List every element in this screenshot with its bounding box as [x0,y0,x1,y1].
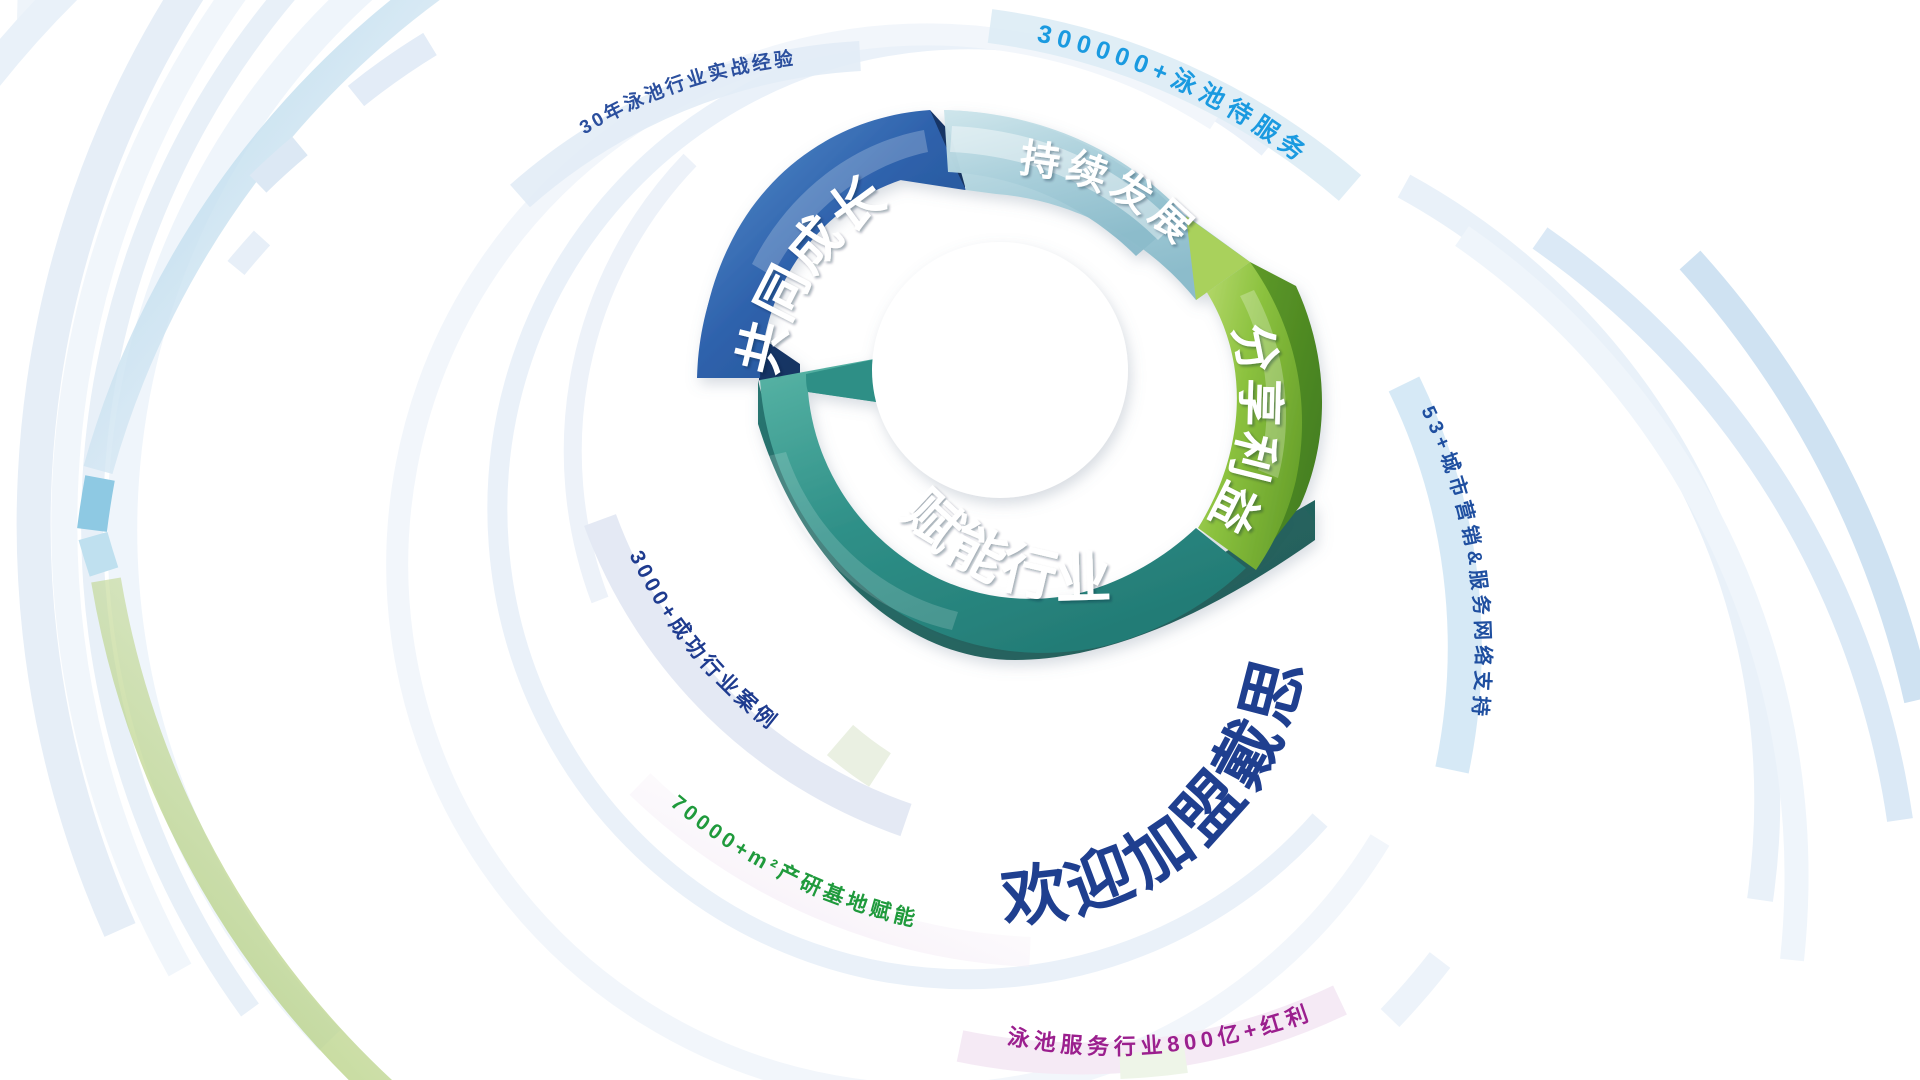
decor-arc-right-4 [1690,260,1918,700]
poster-canvas: 共同成长 持续发展 分享利益 赋能行业 30年泳池行业实战经验 300000+泳… [0,0,1920,1080]
decor-dash-3 [236,238,262,268]
decor-dash-5 [1390,960,1440,1018]
ring-inner-hole [872,242,1128,498]
decor-dash-6 [1120,1060,1186,1066]
decor-arc-accent-blue-left-fade [93,536,104,572]
decor-dash-4 [840,740,880,770]
decor-arc-accent-blue-left [92,478,100,530]
